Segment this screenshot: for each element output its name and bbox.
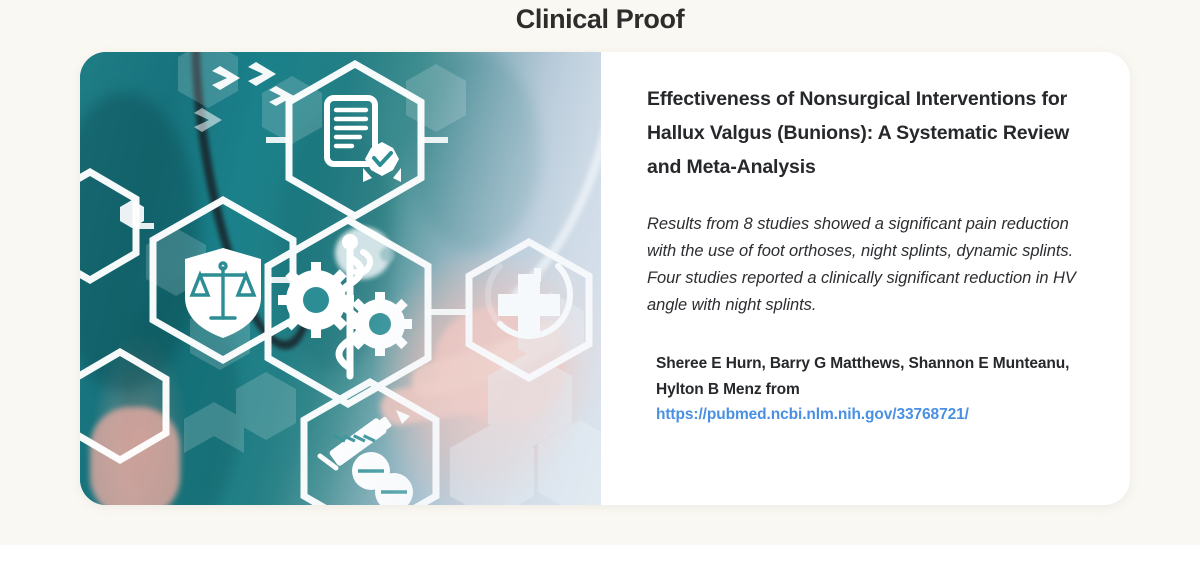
study-abstract: Results from 8 studies showed a signific…: [647, 211, 1094, 319]
page-bottom-strip: [0, 545, 1200, 563]
study-hero-image: [80, 52, 601, 505]
study-details-pane: Effectiveness of Nonsurgical Interventio…: [601, 52, 1130, 505]
study-title: Effectiveness of Nonsurgical Interventio…: [647, 82, 1094, 184]
clinical-proof-section: Clinical Proof: [0, 0, 1200, 563]
page-title: Clinical Proof: [0, 2, 1200, 36]
study-attribution: Sheree E Hurn, Barry G Matthews, Shannon…: [647, 351, 1094, 424]
clinical-proof-card: Effectiveness of Nonsurgical Interventio…: [80, 52, 1130, 505]
study-source-link[interactable]: https://pubmed.ncbi.nlm.nih.gov/33768721…: [656, 406, 969, 424]
photo-sheen: [80, 52, 601, 505]
study-authors: Sheree E Hurn, Barry G Matthews, Shannon…: [656, 351, 1086, 403]
